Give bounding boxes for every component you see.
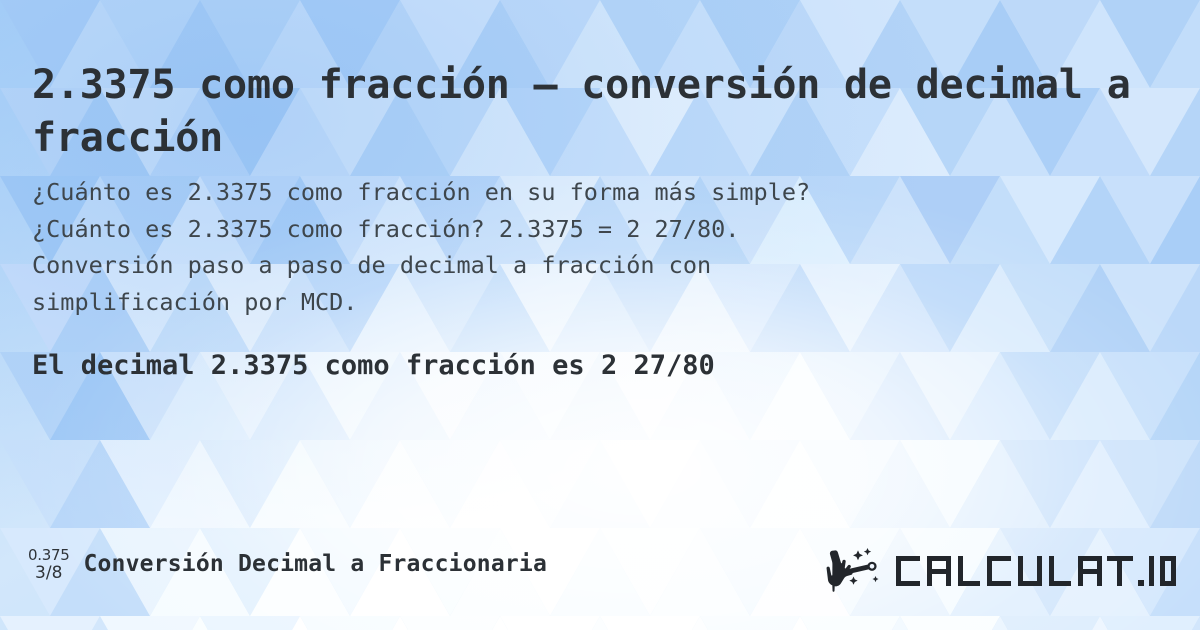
page-description: ¿Cuánto es 2.3375 como fracción en su fo…	[32, 174, 1152, 320]
answer-statement: El decimal 2.3375 como fracción es 2 27/…	[32, 347, 1172, 384]
card-footer: 0.375 3/8 Conversión Decimal a Fracciona…	[0, 540, 1200, 608]
share-card: 2.3375 como fracción – conversión de dec…	[0, 0, 1200, 630]
decimal-fraction-icon: 0.375 3/8	[28, 546, 69, 582]
calculatio-wordmark	[894, 548, 1176, 594]
decimal-fraction-icon-fraction: 3/8	[28, 564, 69, 582]
card-content: 2.3375 como fracción – conversión de dec…	[0, 0, 1200, 630]
footer-brand-left: 0.375 3/8 Conversión Decimal a Fracciona…	[28, 546, 547, 582]
footer-section-title: Conversión Decimal a Fraccionaria	[83, 551, 547, 577]
footer-brand-logo[interactable]	[826, 546, 1176, 596]
hand-magic-wand-icon	[826, 546, 888, 596]
page-title: 2.3375 como fracción – conversión de dec…	[32, 59, 1172, 165]
decimal-fraction-icon-decimal: 0.375	[28, 548, 69, 564]
